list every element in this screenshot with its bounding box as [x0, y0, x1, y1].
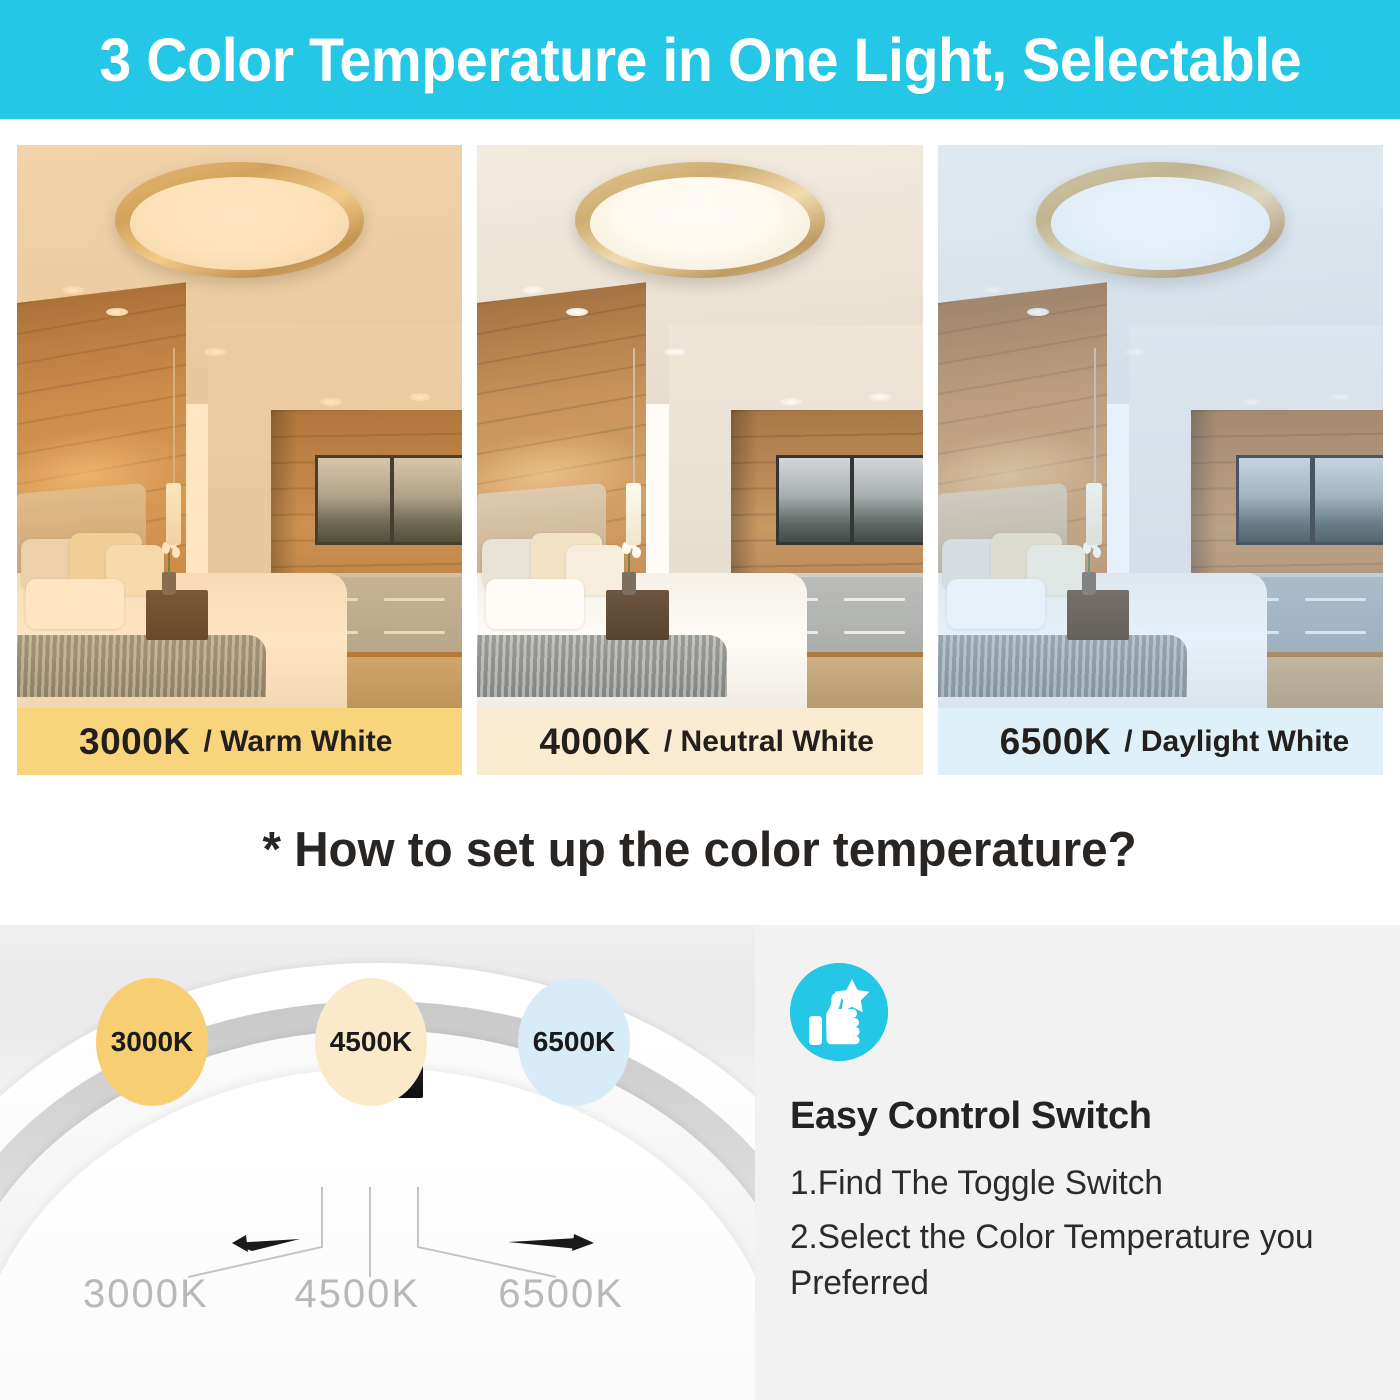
- drawer-handle: [1305, 631, 1366, 634]
- drawer-handle: [384, 631, 445, 634]
- kelvin-name: / Daylight White: [1124, 725, 1349, 759]
- white-name: Neutral White: [681, 725, 874, 758]
- framed-artwork: [315, 455, 392, 545]
- dial-label-3000k: 3000K: [83, 1272, 209, 1317]
- kelvin-value: 3000K: [79, 721, 191, 763]
- white-name: Daylight White: [1141, 725, 1349, 758]
- pillow: [486, 579, 584, 630]
- setup-steps: 1.Find The Toggle Switch 2.Select the Co…: [790, 1160, 1360, 1307]
- ceiling-light-fixture: [575, 162, 824, 278]
- recessed-light: [869, 393, 891, 401]
- comparison-panel-4000k: 4000K / Neutral White: [477, 145, 922, 775]
- orchid-plant: [153, 539, 184, 595]
- recessed-light: [522, 286, 544, 294]
- flower: [172, 547, 180, 558]
- recessed-light: [62, 286, 84, 294]
- drawer-handle: [844, 598, 905, 601]
- recessed-light: [1125, 348, 1147, 356]
- framed-artwork: [1236, 455, 1313, 545]
- setup-step-2: 2.Select the Color Temperature you Prefe…: [790, 1214, 1349, 1306]
- fixture-lens: [130, 177, 349, 270]
- flower: [1093, 547, 1101, 558]
- dial-label-4500k: 4500K: [294, 1272, 420, 1317]
- pillow: [947, 579, 1045, 630]
- easy-control-info: Easy Control Switch 1.Find The Toggle Sw…: [755, 925, 1400, 1400]
- kelvin-value: 6500K: [1000, 721, 1112, 763]
- pendant-light: [626, 483, 641, 545]
- fixture-lens: [1051, 177, 1270, 270]
- kelvin-name: / Neutral White: [664, 725, 874, 759]
- panel-label-3000k: 3000K / Warm White: [17, 708, 462, 775]
- orchid-plant: [613, 539, 644, 595]
- orchid-plant: [1073, 539, 1104, 595]
- recessed-light: [664, 348, 686, 356]
- recessed-light: [982, 286, 1004, 294]
- pendant-light: [166, 483, 181, 545]
- panel-label-6500k: 6500K / Daylight White: [938, 708, 1383, 775]
- pendant-cord: [173, 348, 175, 494]
- comparison-panel-3000k: 3000K / Warm White: [17, 145, 462, 775]
- setup-question: * How to set up the color temperature?: [0, 800, 1400, 900]
- separator: /: [664, 725, 672, 758]
- plant-pot: [162, 572, 176, 596]
- bedroom-photo-daylight: [938, 145, 1383, 708]
- info-heading: Easy Control Switch: [790, 1095, 1360, 1138]
- throw-blanket: [938, 635, 1187, 697]
- header-banner: 3 Color Temperature in One Light, Select…: [0, 0, 1400, 119]
- chip-3000k: 3000K: [96, 978, 208, 1106]
- drawer-handle: [1305, 598, 1366, 601]
- ceiling-light-fixture: [115, 162, 364, 278]
- pendant-cord: [633, 348, 635, 494]
- bedroom-photo-neutral: [477, 145, 922, 708]
- comparison-panel-6500k: 6500K / Daylight White: [938, 145, 1383, 775]
- bedroom-scene: [477, 145, 922, 708]
- dial-label-6500k: 6500K: [498, 1272, 624, 1317]
- nightstand: [606, 590, 668, 641]
- setup-question-text: * How to set up the color temperature?: [263, 822, 1137, 878]
- pendant-cord: [1094, 348, 1096, 494]
- recessed-light: [1330, 393, 1352, 401]
- ceiling-light-fixture: [1036, 162, 1285, 278]
- white-name: Warm White: [220, 725, 392, 758]
- panel-label-4000k: 4000K / Neutral White: [477, 708, 922, 775]
- color-temperature-comparison: 3000K / Warm White: [17, 145, 1383, 775]
- framed-artwork: [851, 455, 922, 545]
- drawer-handle: [384, 598, 445, 601]
- separator: /: [204, 725, 212, 758]
- chip-6500k: 6500K: [518, 978, 630, 1106]
- nightstand: [1067, 590, 1129, 641]
- throw-blanket: [17, 635, 266, 697]
- flower: [632, 547, 640, 558]
- nightstand: [146, 590, 208, 641]
- thumbs-up-star-icon: [790, 963, 888, 1061]
- plant-pot: [1082, 572, 1096, 596]
- page-title: 3 Color Temperature in One Light, Select…: [99, 25, 1301, 95]
- drawer-handle: [844, 631, 905, 634]
- arrow-right-icon: [508, 1238, 578, 1249]
- separator: /: [1124, 725, 1132, 758]
- framed-artwork: [776, 455, 853, 545]
- chip-4500k: 4500K: [315, 978, 427, 1106]
- recessed-light: [204, 348, 226, 356]
- recessed-light: [409, 393, 431, 401]
- kelvin-name: / Warm White: [204, 725, 393, 759]
- pillow: [26, 579, 124, 630]
- bedroom-scene: [17, 145, 462, 708]
- pendant-light: [1086, 483, 1101, 545]
- bottom-section: 3000K 4500K 6500K Easy Control Switch 1.…: [0, 925, 1400, 1400]
- setup-step-1: 1.Find The Toggle Switch: [790, 1160, 1349, 1206]
- throw-blanket: [477, 635, 726, 697]
- framed-artwork: [1312, 455, 1383, 545]
- framed-artwork: [391, 455, 462, 545]
- plant-pot: [622, 572, 636, 596]
- bedroom-photo-warm: [17, 145, 462, 708]
- fixture-lens: [590, 177, 809, 270]
- bedroom-scene: [938, 145, 1383, 708]
- kelvin-value: 4000K: [539, 721, 651, 763]
